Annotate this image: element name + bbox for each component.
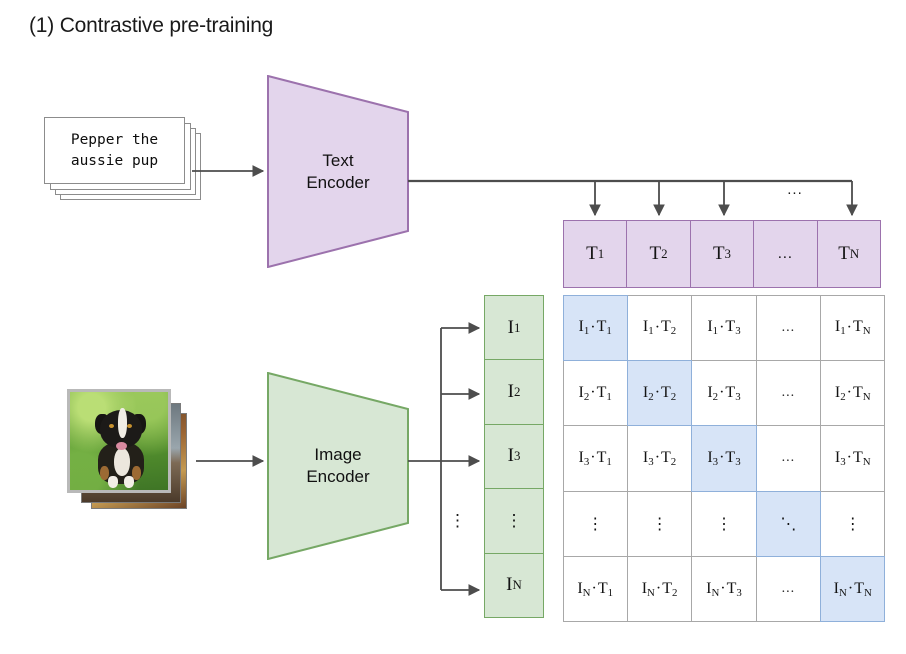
dog-eye-right bbox=[127, 424, 132, 428]
dot-product-operator: · bbox=[719, 384, 724, 402]
matrix-cell-3-N: I3·TN bbox=[820, 425, 885, 491]
matrix-term: I2 bbox=[707, 384, 718, 403]
matrix-cell-1-…: ... bbox=[756, 295, 821, 361]
dog-paw-right bbox=[124, 476, 134, 488]
dot-product-operator: · bbox=[656, 580, 661, 598]
matrix-cell-…-…: ⋱ bbox=[756, 491, 821, 557]
matrix-term: T3 bbox=[727, 580, 742, 599]
matrix-cell-2-N: I2·TN bbox=[820, 360, 885, 426]
dot-product-operator: · bbox=[592, 580, 597, 598]
matrix-cell-N-2: IN·T2 bbox=[627, 556, 692, 622]
matrix-term: IN bbox=[642, 580, 655, 599]
matrix-cell-N-3: IN·T3 bbox=[691, 556, 756, 622]
matrix-term: T3 bbox=[725, 384, 740, 403]
matrix-term: I1 bbox=[643, 318, 654, 337]
matrix-cell-1-1: I1·T1 bbox=[563, 295, 628, 361]
t-embedding-cell[interactable]: T2 bbox=[626, 220, 690, 288]
matrix-term: I3 bbox=[643, 449, 654, 468]
dot-product-operator: · bbox=[590, 449, 595, 467]
matrix-cell-2-3: I2·T3 bbox=[691, 360, 756, 426]
caption-line-2: aussie pup bbox=[71, 151, 158, 172]
i-embedding-cell[interactable]: I3 bbox=[484, 424, 544, 489]
dot-product-operator: · bbox=[848, 580, 853, 598]
t-embedding-cell-ellipsis: … bbox=[753, 220, 817, 288]
dot-product-operator: · bbox=[590, 319, 595, 337]
matrix-term: I1 bbox=[707, 318, 718, 337]
matrix-term: T1 bbox=[597, 449, 612, 468]
t-embedding-cell[interactable]: T1 bbox=[563, 220, 627, 288]
photo-front-puppy bbox=[67, 389, 171, 493]
matrix-cell-2-1: I2·T1 bbox=[563, 360, 628, 426]
matrix-cell-…-1: ⋮ bbox=[563, 491, 628, 557]
dot-product-operator: · bbox=[655, 319, 660, 337]
matrix-term: TN bbox=[853, 318, 871, 337]
t-cell-sub: N bbox=[850, 246, 859, 262]
text-bus-ellipsis: ... bbox=[780, 182, 810, 198]
matrix-term: T2 bbox=[662, 580, 677, 599]
t-embedding-cell[interactable]: TN bbox=[817, 220, 881, 288]
i-cell-sub: N bbox=[513, 577, 522, 593]
matrix-term: I3 bbox=[835, 449, 846, 468]
matrix-term: I1 bbox=[579, 318, 590, 337]
image-embedding-column: I1 I2 I3 ⋮ IN bbox=[484, 295, 544, 618]
t-cell-sub: 1 bbox=[598, 246, 604, 262]
matrix-term: T2 bbox=[661, 384, 676, 403]
i-cell-sub: 1 bbox=[514, 320, 520, 336]
t-cell-base: … bbox=[777, 246, 793, 263]
matrix-term: I1 bbox=[835, 318, 846, 337]
image-encoder-block[interactable]: Image Encoder bbox=[267, 372, 409, 560]
t-cell-base: T bbox=[650, 243, 662, 265]
matrix-cell-3-1: I3·T1 bbox=[563, 425, 628, 491]
t-cell-sub: 3 bbox=[725, 246, 731, 262]
matrix-term: T3 bbox=[725, 318, 740, 337]
matrix-term: I3 bbox=[579, 449, 590, 468]
matrix-term: T2 bbox=[661, 449, 676, 468]
i-embedding-cell[interactable]: I2 bbox=[484, 359, 544, 424]
t-cell-base: T bbox=[713, 243, 725, 265]
matrix-term: TN bbox=[853, 449, 871, 468]
matrix-term: I2 bbox=[579, 384, 590, 403]
matrix-cell-1-3: I1·T3 bbox=[691, 295, 756, 361]
dot-product-operator: · bbox=[590, 384, 595, 402]
matrix-cell-3-…: ... bbox=[756, 425, 821, 491]
t-embedding-cell[interactable]: T3 bbox=[690, 220, 754, 288]
dot-product-operator: · bbox=[719, 319, 724, 337]
dot-product-operator: · bbox=[847, 449, 852, 467]
i-cell-base: ⋮ bbox=[506, 511, 523, 531]
matrix-cell-N-N: IN·TN bbox=[820, 556, 885, 622]
matrix-term: TN bbox=[853, 384, 871, 403]
dot-product-operator: · bbox=[847, 384, 852, 402]
text-encoder-label: Text Encoder bbox=[306, 150, 369, 194]
page-title: (1) Contrastive pre-training bbox=[29, 13, 273, 39]
matrix-term: T1 bbox=[597, 384, 612, 403]
dog-eye-left bbox=[109, 424, 114, 428]
dot-product-operator: · bbox=[719, 449, 724, 467]
t-cell-base: T bbox=[586, 243, 598, 265]
caption-line-1: Pepper the bbox=[71, 130, 158, 151]
matrix-cell-…-3: ⋮ bbox=[691, 491, 756, 557]
dog-tongue bbox=[116, 442, 127, 450]
matrix-term: I2 bbox=[643, 384, 654, 403]
matrix-cell-…-2: ⋮ bbox=[627, 491, 692, 557]
text-caption: Pepper the aussie pup bbox=[44, 117, 185, 184]
dot-product-operator: · bbox=[847, 319, 852, 337]
matrix-term: IN bbox=[834, 580, 847, 599]
matrix-term: T2 bbox=[661, 318, 676, 337]
matrix-cell-1-2: I1·T2 bbox=[627, 295, 692, 361]
similarity-matrix: I1·T1I1·T2I1·T3...I1·TNI2·T1I2·T2I2·T3..… bbox=[563, 295, 885, 622]
matrix-cell-2-2: I2·T2 bbox=[627, 360, 692, 426]
image-encoder-label: Image Encoder bbox=[306, 444, 369, 488]
matrix-cell-2-…: ... bbox=[756, 360, 821, 426]
dog-paw-left bbox=[108, 476, 118, 488]
matrix-term: I2 bbox=[835, 384, 846, 403]
image-bus-ellipsis: ⋮ bbox=[449, 512, 465, 530]
dot-product-operator: · bbox=[720, 580, 725, 598]
i-embedding-cell[interactable]: I1 bbox=[484, 295, 544, 360]
image-photo-stack bbox=[67, 389, 189, 511]
matrix-term: IN bbox=[706, 580, 719, 599]
dog-chest bbox=[114, 448, 130, 476]
dot-product-operator: · bbox=[655, 449, 660, 467]
matrix-term: T1 bbox=[597, 318, 612, 337]
text-encoder-block[interactable]: Text Encoder bbox=[267, 75, 409, 268]
i-embedding-cell-ellipsis: ⋮ bbox=[484, 488, 544, 553]
matrix-term: I3 bbox=[707, 449, 718, 468]
t-cell-sub: 2 bbox=[661, 246, 667, 262]
matrix-cell-N-…: ... bbox=[756, 556, 821, 622]
dog-face-blaze bbox=[118, 408, 127, 438]
matrix-term: T1 bbox=[598, 580, 613, 599]
matrix-term: T3 bbox=[725, 449, 740, 468]
matrix-cell-N-1: IN·T1 bbox=[563, 556, 628, 622]
i-cell-sub: 3 bbox=[514, 448, 520, 464]
i-cell-sub: 2 bbox=[514, 384, 520, 400]
text-embedding-row: T1 T2 T3 … TN bbox=[563, 220, 881, 288]
t-cell-base: T bbox=[838, 243, 850, 265]
i-embedding-cell[interactable]: IN bbox=[484, 553, 544, 618]
matrix-cell-3-2: I3·T2 bbox=[627, 425, 692, 491]
matrix-term: IN bbox=[577, 580, 590, 599]
matrix-cell-3-3: I3·T3 bbox=[691, 425, 756, 491]
matrix-cell-1-N: I1·TN bbox=[820, 295, 885, 361]
dot-product-operator: · bbox=[655, 384, 660, 402]
matrix-term: TN bbox=[854, 580, 872, 599]
matrix-cell-…-N: ⋮ bbox=[820, 491, 885, 557]
